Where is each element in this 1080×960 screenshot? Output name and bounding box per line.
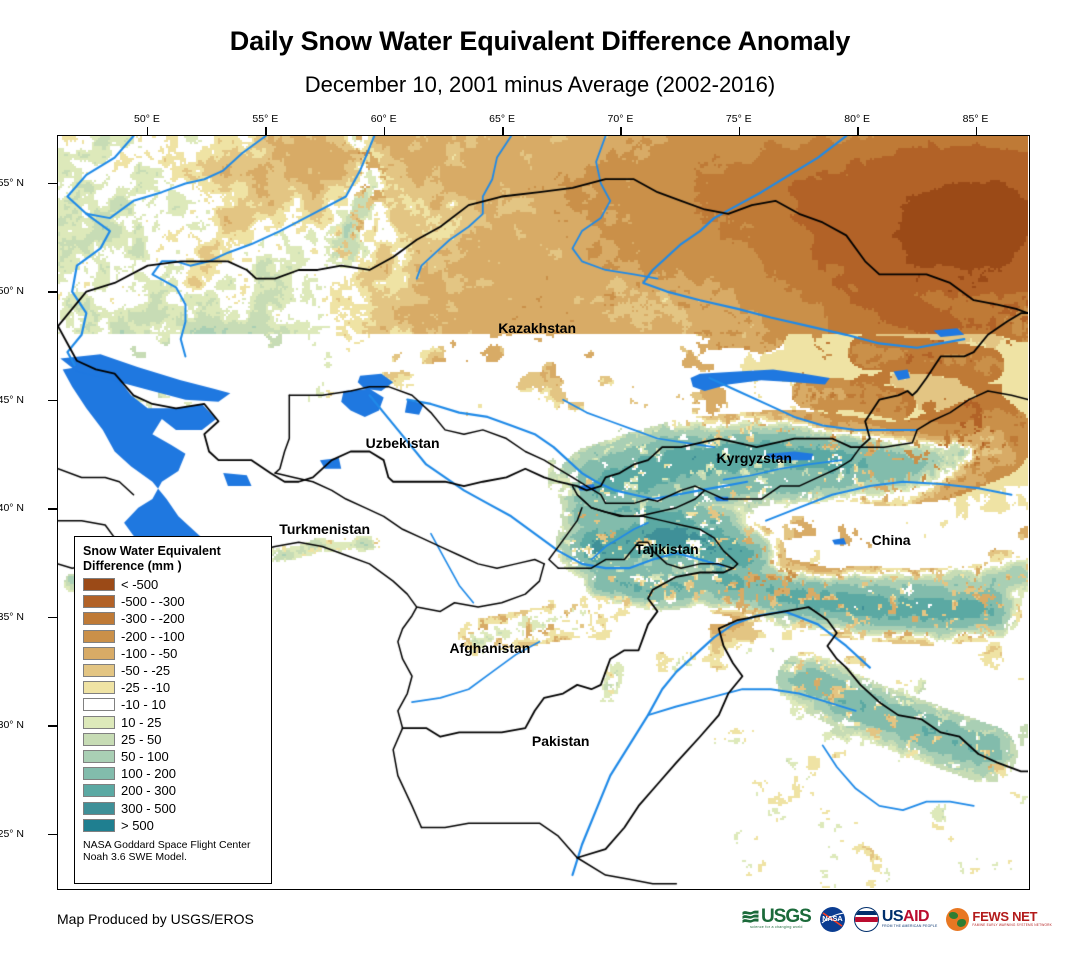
- legend-panel: Snow Water Equivalent Difference (mm ) <…: [74, 536, 272, 884]
- country-label: Tajikistan: [635, 541, 699, 557]
- legend-title: Snow Water Equivalent Difference (mm ): [83, 544, 271, 573]
- legend-title-line1: Snow Water Equivalent: [83, 544, 271, 559]
- legend-class-label: < -500: [121, 578, 158, 591]
- legend-swatch: [83, 802, 115, 815]
- legend-source-line1: NASA Goddard Space Flight Center: [83, 839, 271, 852]
- page-title: Daily Snow Water Equivalent Difference A…: [0, 26, 1080, 57]
- fews-net-logo: FEWS NET FAMINE EARLY WARNING SYSTEMS NE…: [946, 904, 1052, 934]
- lon-label: 75° E: [726, 113, 752, 125]
- lon-label: 55° E: [252, 113, 278, 125]
- lat-tick: [48, 400, 57, 402]
- legend-swatch: [83, 664, 115, 677]
- legend-class-row: -10 - 10: [83, 696, 271, 713]
- legend-swatch: [83, 698, 115, 711]
- legend-class-row: -50 - -25: [83, 662, 271, 679]
- legend-class-row: 50 - 100: [83, 748, 271, 765]
- legend-class-row: -500 - -300: [83, 593, 271, 610]
- legend-class-row: 25 - 50: [83, 731, 271, 748]
- map-page: Daily Snow Water Equivalent Difference A…: [0, 0, 1080, 960]
- legend-swatch: [83, 716, 115, 729]
- legend-class-row: 10 - 25: [83, 714, 271, 731]
- legend-swatch: [83, 630, 115, 643]
- legend-class-list: < -500-500 - -300-300 - -200-200 - -100-…: [83, 576, 271, 834]
- lat-label: 25° N: [0, 828, 24, 840]
- legend-class-label: -300 - -200: [121, 612, 185, 625]
- lon-label: 60° E: [371, 113, 397, 125]
- nasa-wordmark: NASA: [820, 914, 845, 923]
- lat-tick: [48, 725, 57, 727]
- legend-class-row: -100 - -50: [83, 645, 271, 662]
- map-credit: Map Produced by USGS/EROS: [57, 911, 254, 927]
- legend-class-label: -500 - -300: [121, 595, 185, 608]
- usaid-logo: USAID FROM THE AMERICAN PEOPLE: [854, 904, 938, 934]
- fews-wordmark: FEWS NET: [972, 910, 1052, 923]
- legend-class-row: 100 - 200: [83, 765, 271, 782]
- legend-class-label: -200 - -100: [121, 630, 185, 643]
- country-label: Afghanistan: [449, 640, 530, 656]
- lon-label: 50° E: [134, 113, 160, 125]
- legend-swatch: [83, 595, 115, 608]
- lon-label: 85° E: [963, 113, 989, 125]
- legend-class-row: < -500: [83, 576, 271, 593]
- legend-swatch: [83, 784, 115, 797]
- nasa-meatball-icon: NASA: [820, 907, 845, 932]
- lat-tick: [48, 183, 57, 185]
- legend-class-label: 300 - 500: [121, 802, 176, 815]
- legend-title-line2: Difference (mm ): [83, 559, 271, 574]
- legend-swatch: [83, 767, 115, 780]
- usgs-tagline: science for a changing world: [750, 925, 803, 930]
- lon-label: 70° E: [608, 113, 634, 125]
- legend-swatch: [83, 733, 115, 746]
- lat-label: 50° N: [0, 285, 24, 297]
- logo-bar: USGS science for a changing world NASA U…: [742, 903, 1052, 935]
- page-subtitle: December 10, 2001 minus Average (2002-20…: [0, 72, 1080, 98]
- fews-globe-icon: [946, 908, 969, 931]
- legend-class-row: 200 - 300: [83, 782, 271, 799]
- country-label: China: [872, 532, 911, 548]
- legend-class-row: 300 - 500: [83, 799, 271, 816]
- legend-class-row: -25 - -10: [83, 679, 271, 696]
- usaid-wordmark-us: US: [882, 908, 903, 925]
- lat-label: 40° N: [0, 502, 24, 514]
- lat-tick: [48, 834, 57, 836]
- lat-tick: [48, 617, 57, 619]
- legend-class-label: 10 - 25: [121, 716, 161, 729]
- lat-label: 45° N: [0, 394, 24, 406]
- usaid-wordmark-aid: AID: [903, 908, 929, 925]
- legend-class-label: -50 - -25: [121, 664, 170, 677]
- legend-class-label: 200 - 300: [121, 784, 176, 797]
- lat-tick: [48, 291, 57, 293]
- country-label: Pakistan: [532, 733, 590, 749]
- country-label: Kyrgyzstan: [716, 450, 791, 466]
- legend-source: NASA Goddard Space Flight Center Noah 3.…: [83, 839, 271, 864]
- fews-tagline: FAMINE EARLY WARNING SYSTEMS NETWORK: [972, 923, 1052, 928]
- country-label: Kazakhstan: [498, 320, 576, 336]
- legend-swatch: [83, 647, 115, 660]
- legend-swatch: [83, 750, 115, 763]
- legend-swatch: [83, 681, 115, 694]
- usgs-logo: USGS science for a changing world: [742, 904, 811, 934]
- legend-class-label: -10 - 10: [121, 698, 166, 711]
- lat-label: 30° N: [0, 719, 24, 731]
- legend-class-label: > 500: [121, 819, 154, 832]
- legend-class-row: > 500: [83, 817, 271, 834]
- legend-swatch: [83, 819, 115, 832]
- legend-class-row: -300 - -200: [83, 610, 271, 627]
- country-label: Turkmenistan: [279, 521, 370, 537]
- legend-swatch: [83, 578, 115, 591]
- lat-label: 35° N: [0, 611, 24, 623]
- lon-label: 65° E: [489, 113, 515, 125]
- usaid-seal-icon: [854, 907, 879, 932]
- usaid-tagline: FROM THE AMERICAN PEOPLE: [882, 924, 938, 929]
- legend-class-label: 50 - 100: [121, 750, 169, 763]
- lon-label: 80° E: [844, 113, 870, 125]
- usgs-wave-icon: [742, 909, 759, 924]
- legend-class-label: 25 - 50: [121, 733, 161, 746]
- lat-label: 55° N: [0, 177, 24, 189]
- usgs-wordmark: USGS: [761, 908, 811, 925]
- legend-class-label: -25 - -10: [121, 681, 170, 694]
- country-label: Uzbekistan: [366, 435, 440, 451]
- lat-tick: [48, 508, 57, 510]
- legend-swatch: [83, 612, 115, 625]
- legend-source-line2: Noah 3.6 SWE Model.: [83, 851, 271, 864]
- legend-class-label: -100 - -50: [121, 647, 177, 660]
- legend-class-row: -200 - -100: [83, 628, 271, 645]
- nasa-logo: NASA: [820, 904, 845, 934]
- legend-class-label: 100 - 200: [121, 767, 176, 780]
